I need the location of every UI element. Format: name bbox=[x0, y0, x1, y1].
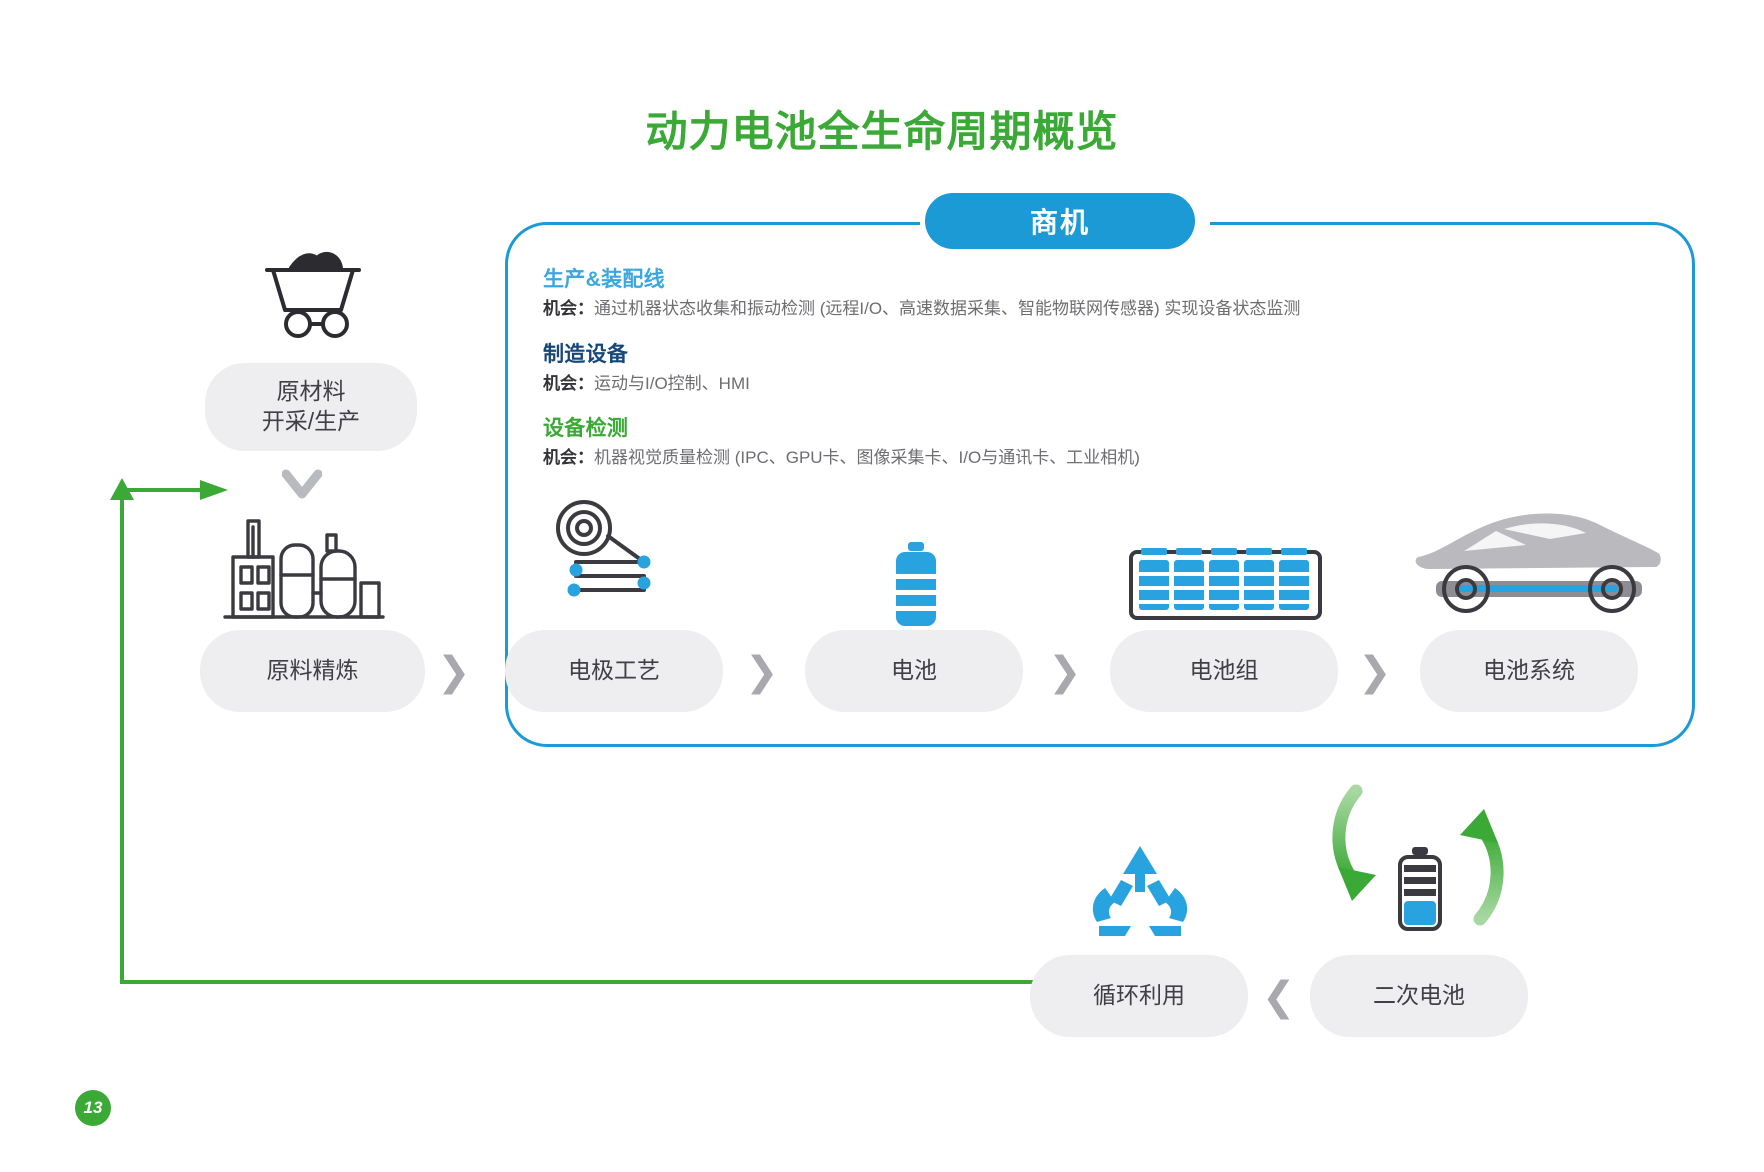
recycle-return-path bbox=[100, 470, 1060, 1010]
opportunity-body-production: 通过机器状态收集和振动检测 (远程I/O、高速数据采集、智能物联网传感器) 实现… bbox=[594, 299, 1300, 318]
chevron-right-icon-4: ❯ bbox=[1358, 652, 1392, 692]
stage-cell[interactable]: 电池 bbox=[805, 630, 1023, 712]
opportunity-text-inspection: 机会：机器视觉质量检测 (IPC、GPU卡、图像采集卡、I/O与通讯卡、工业相机… bbox=[543, 446, 1663, 471]
electric-vehicle-icon bbox=[1400, 495, 1665, 630]
opportunity-heading-production: 生产&装配线 bbox=[543, 263, 1663, 293]
stage-second-life[interactable]: 二次电池 bbox=[1310, 955, 1528, 1037]
opportunity-text-equipment: 机会：运动与I/O控制、HMI bbox=[543, 372, 1663, 397]
chevron-right-icon-3: ❯ bbox=[1048, 652, 1082, 692]
opportunity-content: 生产&装配线 机会：通过机器状态收集和振动检测 (远程I/O、高速数据采集、智能… bbox=[543, 263, 1663, 487]
page-title: 动力电池全生命周期概览 bbox=[0, 98, 1764, 159]
stage-raw-material[interactable]: 原材料 开采/生产 bbox=[205, 363, 417, 451]
stage-raw-material-line1: 原材料 bbox=[276, 378, 345, 404]
mining-cart-icon bbox=[243, 232, 383, 342]
opportunity-body-inspection: 机器视觉质量检测 (IPC、GPU卡、图像采集卡、I/O与通讯卡、工业相机) bbox=[594, 448, 1140, 467]
opportunity-text-production: 机会：通过机器状态收集和振动检测 (远程I/O、高速数据采集、智能物联网传感器)… bbox=[543, 297, 1663, 322]
recycle-loop-arrows-icon bbox=[1318, 755, 1518, 955]
opportunity-heading-equipment: 制造设备 bbox=[543, 338, 1663, 368]
stage-electrode[interactable]: 电极工艺 bbox=[505, 630, 723, 712]
page-number-badge: 13 bbox=[75, 1090, 111, 1126]
opportunity-label-production: 机会： bbox=[543, 299, 594, 318]
opportunity-body-equipment: 运动与I/O控制、HMI bbox=[594, 374, 750, 393]
chevron-right-icon-2: ❯ bbox=[745, 652, 779, 692]
stage-system[interactable]: 电池系统 bbox=[1420, 630, 1638, 712]
chevron-left-icon-back: ❯ bbox=[1262, 977, 1296, 1017]
opportunity-badge: 商机 bbox=[925, 193, 1195, 249]
recycle-symbol-icon bbox=[1085, 840, 1195, 945]
stage-refining[interactable]: 原料精炼 bbox=[200, 630, 425, 712]
opportunity-group-equipment: 制造设备 机会：运动与I/O控制、HMI bbox=[543, 338, 1663, 397]
opportunity-label-inspection: 机会： bbox=[543, 448, 594, 467]
chevron-right-icon-1: ❯ bbox=[437, 652, 471, 692]
opportunity-heading-inspection: 设备检测 bbox=[543, 412, 1663, 442]
opportunity-group-inspection: 设备检测 机会：机器视觉质量检测 (IPC、GPU卡、图像采集卡、I/O与通讯卡… bbox=[543, 412, 1663, 471]
stage-raw-material-label: 原材料 开采/生产 bbox=[262, 377, 360, 437]
stage-recycle[interactable]: 循环利用 bbox=[1030, 955, 1248, 1037]
stage-raw-material-line2: 开采/生产 bbox=[262, 408, 360, 434]
stage-module[interactable]: 电池组 bbox=[1110, 630, 1338, 712]
battery-module-icon bbox=[1128, 540, 1323, 630]
opportunity-label-equipment: 机会： bbox=[543, 374, 594, 393]
opportunity-group-production: 生产&装配线 机会：通过机器状态收集和振动检测 (远程I/O、高速数据采集、智能… bbox=[543, 263, 1663, 322]
